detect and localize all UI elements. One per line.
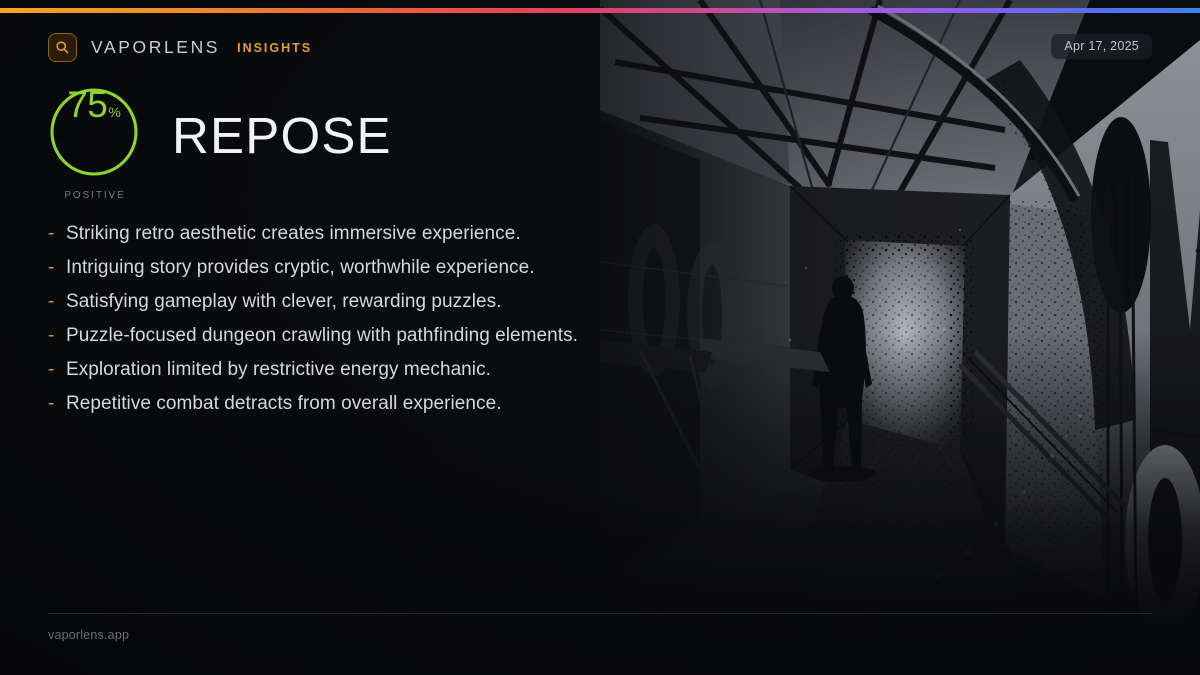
footer-url: vaporlens.app — [48, 628, 129, 642]
score-block: 75 % POSITIVE — [48, 86, 144, 201]
insight-card: VAPORLENS INSIGHTS Apr 17, 2025 75 % POS… — [0, 0, 1200, 675]
dash-bullet-icon: - — [48, 287, 66, 316]
dash-bullet-icon: - — [48, 253, 66, 282]
list-item: - Exploration limited by restrictive ene… — [48, 355, 748, 389]
insight-text: Satisfying gameplay with clever, rewardi… — [66, 287, 502, 316]
dash-bullet-icon: - — [48, 355, 66, 384]
brand-row: VAPORLENS INSIGHTS — [48, 33, 312, 62]
insight-text: Striking retro aesthetic creates immersi… — [66, 219, 521, 248]
list-item: - Puzzle-focused dungeon crawling with p… — [48, 321, 748, 355]
insight-list: - Striking retro aesthetic creates immer… — [48, 219, 748, 423]
dash-bullet-icon: - — [48, 219, 66, 248]
score-value: 75 — [67, 86, 107, 123]
list-item: - Intriguing story provides cryptic, wor… — [48, 253, 748, 287]
accent-gradient-bar — [0, 0, 1200, 5]
list-item: - Striking retro aesthetic creates immer… — [48, 219, 748, 253]
footer-divider — [48, 613, 1152, 614]
score-ring: 75 % — [48, 86, 140, 178]
date-badge: Apr 17, 2025 — [1051, 34, 1152, 59]
section-label: INSIGHTS — [237, 41, 312, 55]
brand-name: VAPORLENS — [91, 37, 220, 58]
dash-bullet-icon: - — [48, 389, 66, 418]
insight-text: Exploration limited by restrictive energ… — [66, 355, 491, 384]
search-icon[interactable] — [48, 33, 77, 62]
list-item: - Repetitive combat detracts from overal… — [48, 389, 748, 423]
insight-text: Intriguing story provides cryptic, worth… — [66, 253, 535, 282]
dash-bullet-icon: - — [48, 321, 66, 350]
score-percent-symbol: % — [108, 105, 120, 119]
list-item: - Satisfying gameplay with clever, rewar… — [48, 287, 748, 321]
score-label: POSITIVE — [46, 190, 144, 201]
insight-text: Puzzle-focused dungeon crawling with pat… — [66, 321, 578, 350]
page-title: REPOSE — [172, 110, 392, 161]
insight-text: Repetitive combat detracts from overall … — [66, 389, 502, 418]
